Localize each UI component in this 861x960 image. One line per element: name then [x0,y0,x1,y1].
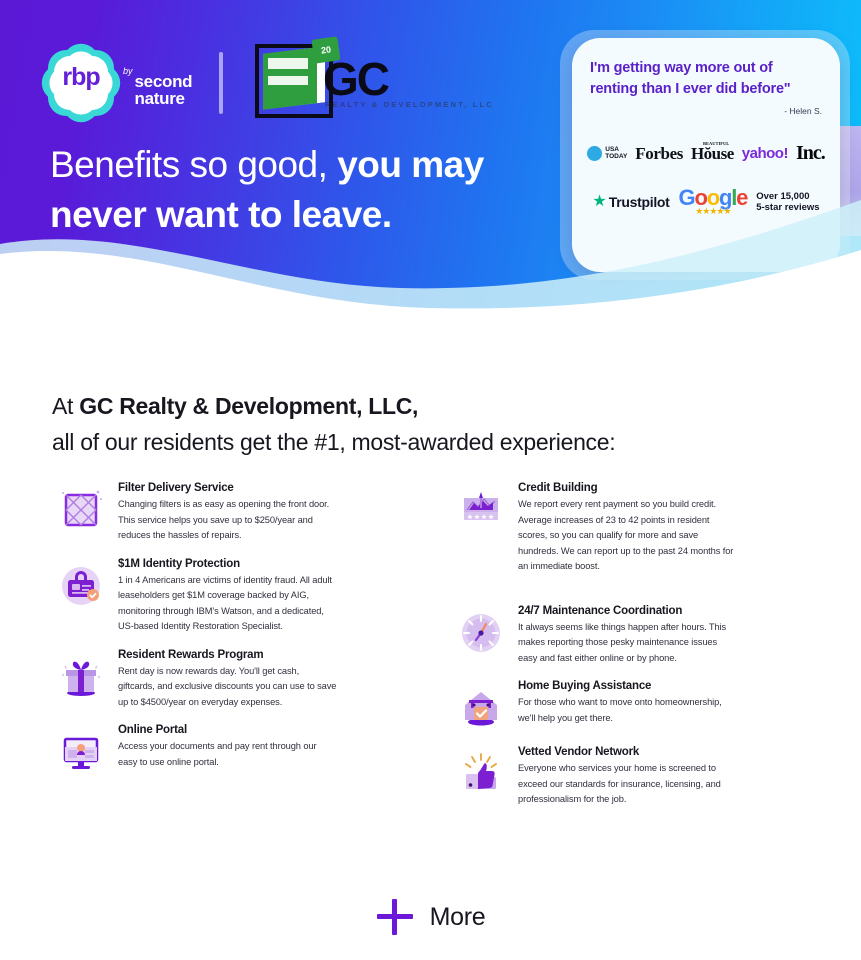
benefit-title: Credit Building [518,482,738,494]
benefit-text: $1M Identity Protection 1 in 4 Americans… [118,558,338,635]
more-footer[interactable]: More [0,898,861,936]
logo-divider [219,52,223,114]
benefit-description: Access your documents and pay rent throu… [118,739,338,770]
benefit-title: Vetted Vendor Network [518,746,738,758]
benefit-item: Credit Building We report every rent pay… [444,482,844,575]
headline-bold: you may [337,144,484,185]
house-beautiful-wordmark: Hŏuse [691,144,734,163]
benefit-text: Filter Delivery Service Changing filters… [118,482,338,544]
credit-chart-icon [444,482,518,575]
benefit-item: $1M Identity Protection 1 in 4 Americans… [44,558,444,635]
gc-wordmark: GC [323,56,388,102]
rbp-second-nature-logo: rbp by second nature [48,50,192,116]
benefit-item: Home Buying Assistance For those who wan… [444,680,844,732]
more-label: More [430,903,486,932]
thumbs-up-icon [444,746,518,808]
section-heading-prefix: At [52,393,79,419]
plus-icon [376,898,414,936]
usa-today-dot-icon [587,146,602,161]
benefit-title: Online Portal [118,724,338,736]
usa-today-line2: TODAY [605,154,627,161]
benefits-columns: Filter Delivery Service Changing filters… [44,482,844,822]
rbp-wordmark: rbp [48,50,114,104]
benefit-text: Online Portal Access your documents and … [118,724,338,776]
identity-shield-icon [44,558,118,635]
benefits-column-left: Filter Delivery Service Changing filters… [44,482,444,822]
benefit-title: Home Buying Assistance [518,680,738,692]
benefit-text: Vetted Vendor Network Everyone who servi… [518,746,738,808]
rbp-logo-mark: rbp [48,50,114,116]
benefit-description: 1 in 4 Americans are victims of identity… [118,573,338,635]
air-filter-icon [44,482,118,544]
press-logos-row: USA TODAY Forbes BEAUTIFUL Hŏuse yahoo! … [590,142,822,165]
benefit-item: Resident Rewards Program Rent day is now… [44,649,444,711]
benefit-title: Resident Rewards Program [118,649,338,661]
yahoo-logo: yahoo! [742,145,788,162]
house-check-icon [444,680,518,732]
benefit-title: Filter Delivery Service [118,482,338,494]
benefit-text: Credit Building We report every rent pay… [518,482,738,575]
section-heading-company: GC Realty & Development, LLC, [79,393,418,419]
benefits-column-right: Credit Building We report every rent pay… [444,482,844,822]
gc-book-page-2 [268,76,308,85]
section-heading-line2: all of our residents get the #1, most-aw… [52,429,615,455]
benefit-description: Everyone who services your home is scree… [518,761,738,808]
hero-banner: rbp by second nature 20 GC REALTY & DEVE… [0,0,861,312]
benefit-item: Online Portal Access your documents and … [44,724,444,776]
benefit-text: Home Buying Assistance For those who wan… [518,680,738,732]
section-heading: At GC Realty & Development, LLC, all of … [52,388,692,460]
benefit-description: Changing filters is as easy as opening t… [118,497,338,544]
second-nature-wordmark: second nature [133,59,193,107]
benefit-title: 24/7 Maintenance Coordination [518,605,738,617]
second-nature-line1: second [135,73,193,90]
usa-today-wordmark: USA TODAY [605,147,627,160]
gc-realty-logo: 20 GC REALTY & DEVELOPMENT, LLC [255,38,460,118]
benefit-item: 24/7 Maintenance Coordination It always … [444,605,844,667]
house-beautiful-superscript: BEAUTIFUL [703,141,729,146]
benefit-description: It always seems like things happen after… [518,620,738,667]
gift-icon [44,649,118,711]
gc-subtitle: REALTY & DEVELOPMENT, LLC [325,100,494,109]
benefit-item: Vetted Vendor Network Everyone who servi… [444,746,844,808]
benefit-item: Filter Delivery Service Changing filters… [44,482,444,544]
benefit-text: Resident Rewards Program Rent day is now… [118,649,338,711]
benefit-description: For those who want to move onto homeowne… [518,695,738,726]
hero-wave-divider [0,192,861,312]
marketing-flyer: rbp by second nature 20 GC REALTY & DEVE… [0,0,861,960]
benefit-title: $1M Identity Protection [118,558,338,570]
rbp-by-label: by [123,66,133,76]
benefit-text: 24/7 Maintenance Coordination It always … [518,605,738,667]
usa-today-logo: USA TODAY [587,146,627,161]
house-beautiful-logo: BEAUTIFUL Hŏuse [691,144,734,164]
inc-logo: Inc. [796,142,825,165]
testimonial-quote: I'm getting way more out of renting than… [590,58,822,100]
second-nature-line2: nature [135,90,193,107]
benefit-description: Rent day is now rewards day. You'll get … [118,664,338,711]
clock-icon [444,605,518,667]
headline-part-1: Benefits so good, [50,144,337,185]
forbes-logo: Forbes [635,144,683,164]
testimonial-attribution: - Helen S. [590,106,822,116]
gc-book-page-1 [268,58,308,69]
monitor-portal-icon [44,724,118,776]
benefit-description: We report every rent payment so you buil… [518,497,738,575]
